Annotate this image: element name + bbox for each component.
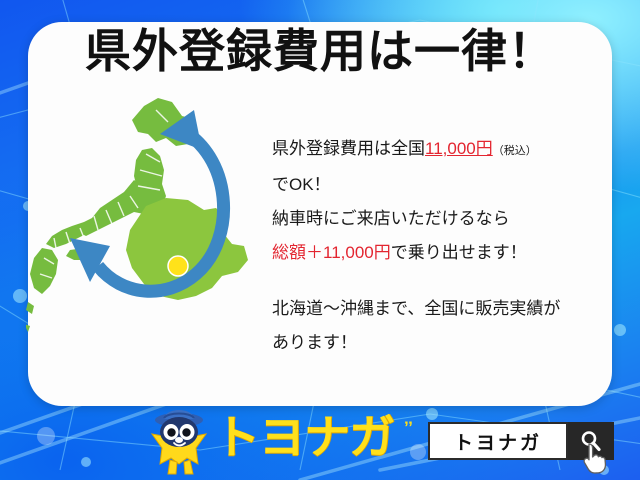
toyonaga-mascot	[146, 404, 212, 478]
copy-line-5: 北海道〜沖縄まで、全国に販売実績が	[272, 292, 578, 326]
price-highlight-2: 総額＋11,000円	[272, 243, 391, 262]
body-copy: 県外登録費用は全国11,000円（税込） でOK！ 納車時にご来店いただけるなら…	[272, 132, 578, 360]
copy-line-1: 県外登録費用は全国11,000円（税込）	[272, 132, 578, 168]
japan-map-illustration	[26, 88, 262, 368]
paragraph-spacer	[272, 270, 578, 292]
search-widget[interactable]: トヨナガ	[428, 422, 614, 460]
copy-line-4: 総額＋11,000円で乗り出せます！	[272, 236, 578, 270]
copy-line-2: でOK！	[272, 168, 578, 202]
brand-logo-dots: ’’	[404, 418, 413, 438]
copy-line-1-prefix: 県外登録費用は全国	[272, 139, 425, 158]
brand-logo-text: トヨナガ	[214, 414, 394, 460]
copy-line-3: 納車時にご来店いただけるなら	[272, 202, 578, 236]
location-marker-dot	[168, 256, 188, 276]
copy-line-4-suffix: で乗り出せます！	[391, 243, 527, 262]
page-title: 県外登録費用は一律！	[0, 28, 640, 74]
tax-included-note: （税込）	[493, 145, 537, 157]
price-highlight-1: 11,000円	[425, 139, 493, 158]
hand-pointer-icon	[582, 442, 608, 474]
copy-line-6: あります！	[272, 326, 578, 360]
search-input[interactable]: トヨナガ	[428, 422, 568, 460]
banner-image: 県外登録費用は一律！	[0, 0, 640, 480]
